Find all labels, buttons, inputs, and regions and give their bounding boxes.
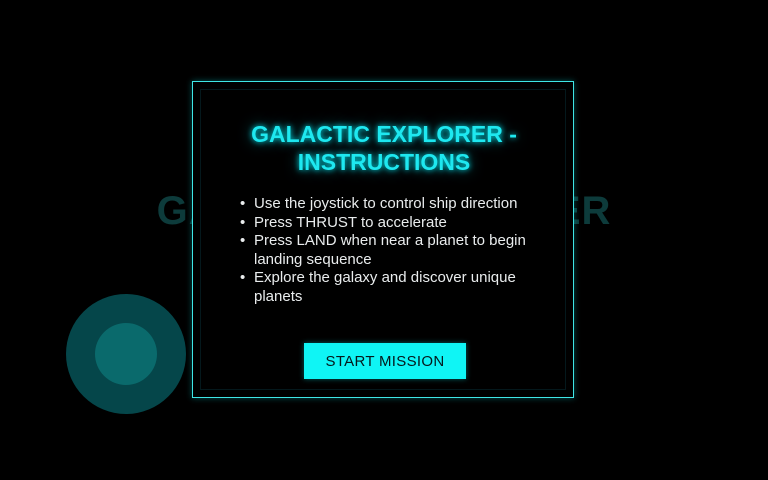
instructions-list: • Use the joystick to control ship direc… bbox=[239, 195, 539, 306]
bullet-icon: • bbox=[240, 232, 245, 251]
game-canvas: GALACTIC EXPLORER for launch! GALACTIC E… bbox=[0, 0, 768, 480]
bullet-icon: • bbox=[240, 195, 245, 214]
start-mission-button[interactable]: START MISSION bbox=[304, 343, 466, 379]
modal-title-line-2: INSTRUCTIONS bbox=[219, 148, 549, 176]
instruction-text: Press THRUST to accelerate bbox=[254, 214, 447, 231]
instruction-text: Explore the galaxy and discover unique p… bbox=[254, 269, 516, 305]
list-item: • Use the joystick to control ship direc… bbox=[239, 195, 539, 214]
list-item: • Press LAND when near a planet to begin… bbox=[239, 232, 539, 269]
list-item: • Press THRUST to accelerate bbox=[239, 214, 539, 233]
modal-title-line-1: GALACTIC EXPLORER - bbox=[219, 120, 549, 148]
instruction-text: Press LAND when near a planet to begin l… bbox=[254, 232, 526, 268]
instruction-text: Use the joystick to control ship directi… bbox=[254, 195, 517, 212]
joystick-knob[interactable] bbox=[95, 323, 157, 385]
instructions-modal: GALACTIC EXPLORER - INSTRUCTIONS • Use t… bbox=[192, 81, 574, 398]
bullet-icon: • bbox=[240, 269, 245, 288]
list-item: • Explore the galaxy and discover unique… bbox=[239, 269, 539, 306]
bullet-icon: • bbox=[240, 214, 245, 233]
modal-title: GALACTIC EXPLORER - INSTRUCTIONS bbox=[219, 120, 549, 176]
